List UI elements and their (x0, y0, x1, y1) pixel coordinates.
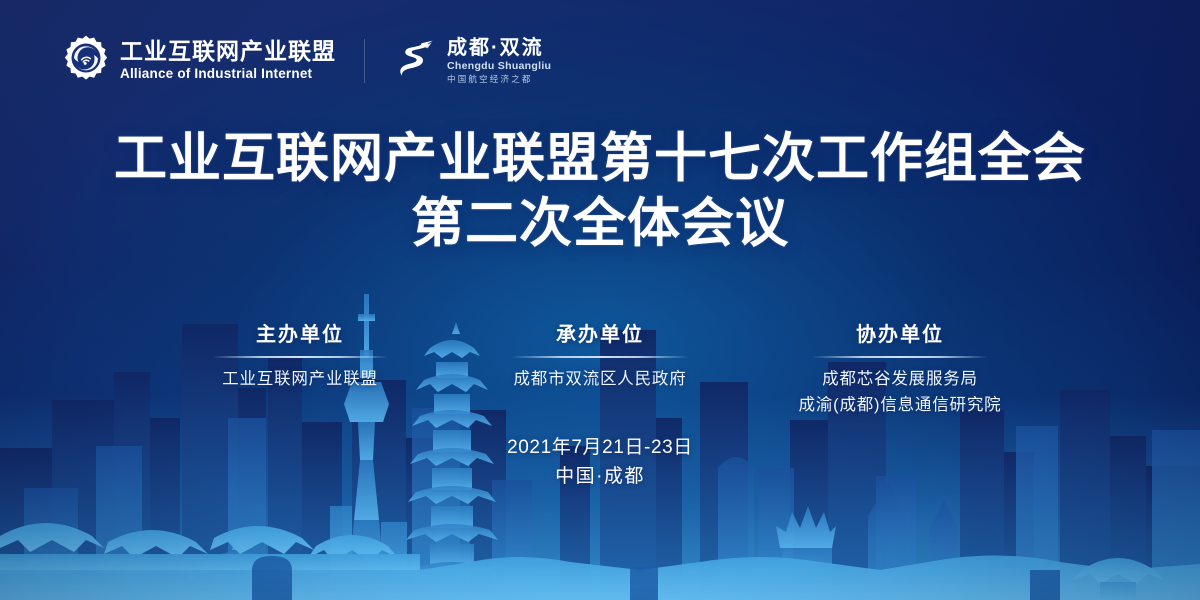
logo-chengdu-cn: 成都·双流 (447, 38, 551, 58)
logo-bar: 工业互联网产业联盟 Alliance of Industrial Interne… (62, 34, 551, 87)
organizer-coorganizer-rule (812, 356, 988, 358)
background-vignette (0, 0, 1200, 600)
organizer-undertaker: 承办单位 成都市双流区人民政府 (450, 318, 750, 393)
gear-wifi-logo-icon (62, 34, 110, 87)
swoosh-plane-logo-icon (393, 35, 439, 86)
organizer-host-rule (212, 356, 388, 358)
organizer-coorganizer-item-1: 成都芯谷发展服务局 (750, 367, 1050, 393)
organizer-coorganizer-item-2: 成渝(成都)信息通信研究院 (750, 393, 1050, 419)
logo-chengdu-tagline: 中国航空经济之都 (447, 75, 551, 84)
logo-alliance-cn: 工业互联网产业联盟 (120, 40, 336, 63)
banner-title: 工业互联网产业联盟第十七次工作组全会 第二次全体会议 (0, 128, 1200, 255)
organizer-host-item: 工业互联网产业联盟 (150, 367, 450, 393)
organizer-coorganizer-heading: 协办单位 (750, 318, 1050, 347)
logo-alliance-of-industrial-internet: 工业互联网产业联盟 Alliance of Industrial Interne… (62, 34, 336, 87)
event-meta: 2021年7月21日-23日 中国·成都 (0, 434, 1200, 491)
logo-alliance-en: Alliance of Industrial Internet (120, 67, 336, 81)
organizer-undertaker-body: 成都市双流区人民政府 (450, 367, 750, 393)
organizer-undertaker-rule (512, 356, 688, 358)
organizer-undertaker-heading: 承办单位 (450, 318, 750, 347)
organizer-coorganizer-body: 成都芯谷发展服务局 成渝(成都)信息通信研究院 (750, 367, 1050, 418)
organizer-sections: 主办单位 工业互联网产业联盟 承办单位 成都市双流区人民政府 协办单位 成都芯谷… (0, 318, 1200, 418)
title-line-1: 工业互联网产业联盟第十七次工作组全会 (0, 128, 1200, 189)
logo-chengdu-shuangliu: 成都·双流 Chengdu Shuangliu 中国航空经济之都 (393, 35, 551, 86)
organizer-host: 主办单位 工业互联网产业联盟 (150, 318, 450, 393)
logo-divider (364, 39, 365, 83)
organizer-host-body: 工业互联网产业联盟 (150, 367, 450, 393)
event-place: 中国·成都 (0, 463, 1200, 492)
logo-chengdu-text: 成都·双流 Chengdu Shuangliu 中国航空经济之都 (447, 38, 551, 83)
organizer-undertaker-item: 成都市双流区人民政府 (450, 367, 750, 393)
logo-alliance-text: 工业互联网产业联盟 Alliance of Industrial Interne… (120, 40, 336, 81)
organizer-host-heading: 主办单位 (150, 318, 450, 347)
logo-chengdu-en: Chengdu Shuangliu (447, 61, 551, 72)
conference-banner: 工业互联网产业联盟 Alliance of Industrial Interne… (0, 0, 1200, 600)
event-date: 2021年7月21日-23日 (0, 434, 1200, 463)
title-line-2: 第二次全体会议 (0, 193, 1200, 254)
organizer-coorganizer: 协办单位 成都芯谷发展服务局 成渝(成都)信息通信研究院 (750, 318, 1050, 418)
